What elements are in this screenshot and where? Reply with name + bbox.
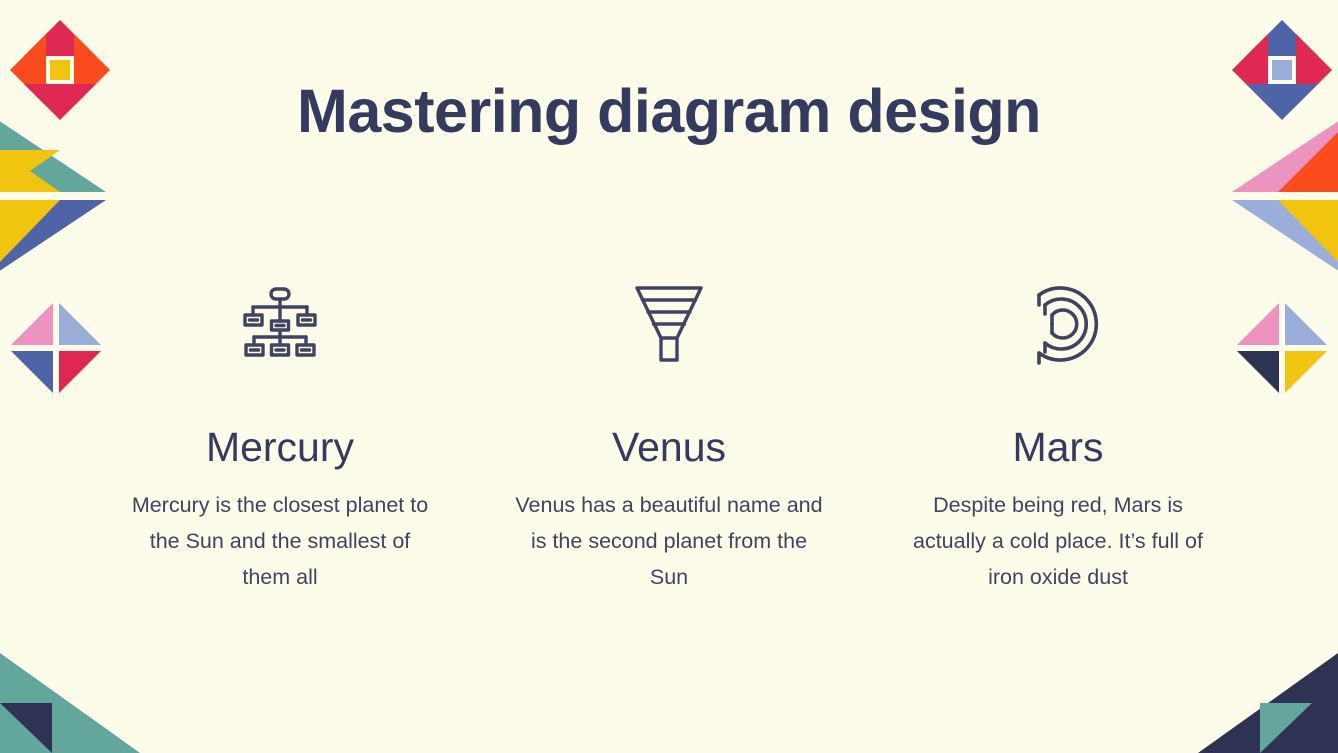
- column-body-mercury: Mercury is the closest planet to the Sun…: [125, 487, 435, 595]
- decoration-right-pinwheel: [1234, 300, 1330, 396]
- decoration-left-pinwheel: [8, 300, 104, 396]
- page-title: Mastering diagram design: [0, 78, 1338, 145]
- decoration-bottom-left-corner: [0, 653, 140, 753]
- decoration-right-lightblue-triangle: [1232, 200, 1338, 300]
- column-heading-venus: Venus: [612, 425, 726, 470]
- slide-canvas: Mastering diagram design: [0, 0, 1338, 753]
- decoration-bottom-right-corner: [1198, 653, 1338, 753]
- funnel-icon: [629, 278, 709, 370]
- decoration-left-blue-triangle: [0, 200, 106, 300]
- column-body-mars: Despite being red, Mars is actually a co…: [903, 487, 1213, 595]
- column-mars: Mars Despite being red, Mars is actually…: [888, 278, 1228, 595]
- column-heading-mars: Mars: [1012, 425, 1103, 470]
- column-heading-mercury: Mercury: [206, 425, 354, 470]
- org-chart-icon: [240, 278, 320, 370]
- column-venus: Venus Venus has a beautiful name and is …: [499, 278, 839, 595]
- column-body-venus: Venus has a beautiful name and is the se…: [514, 487, 824, 595]
- column-mercury: Mercury Mercury is the closest planet to…: [110, 278, 450, 595]
- spiral-chart-icon: [1017, 278, 1099, 370]
- feature-columns: Mercury Mercury is the closest planet to…: [110, 278, 1228, 595]
